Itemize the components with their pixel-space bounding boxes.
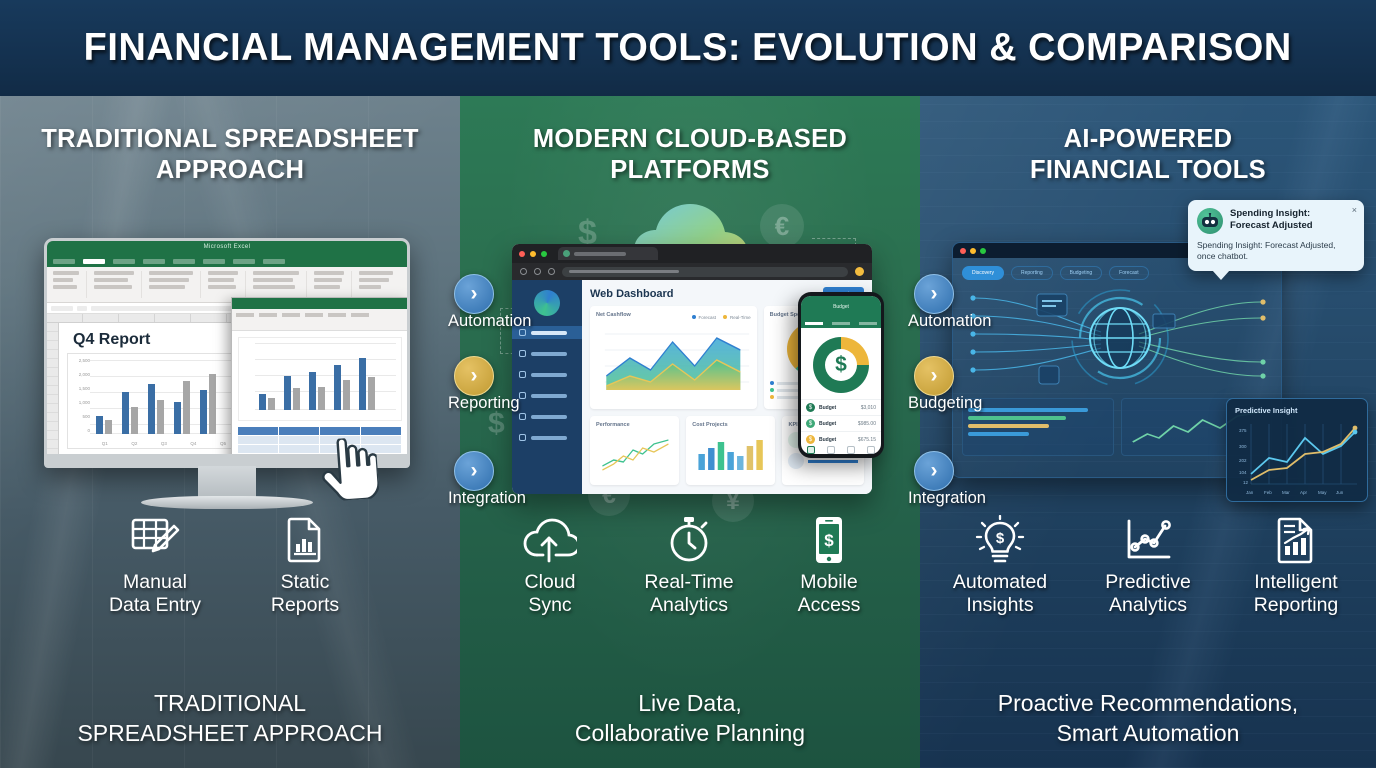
page-title: FINANCIAL MANAGEMENT TOOLS: EVOLUTION & …	[84, 26, 1292, 70]
ribbon-tab[interactable]	[113, 259, 135, 264]
connector-label: Integration	[448, 489, 526, 508]
phone-budget-row[interactable]: $ Budget $985.00	[801, 415, 881, 431]
connector-label: Reporting	[448, 394, 520, 413]
row-label: Budget	[819, 437, 854, 443]
feature-label: Real-Time Analytics	[614, 571, 764, 617]
monitor-stand-base	[141, 496, 313, 509]
secondary-spreadsheet-window[interactable]	[231, 297, 407, 454]
connector-budgeting-right[interactable]: › Budgeting	[914, 356, 1054, 396]
ribbon-group[interactable]	[253, 271, 307, 298]
mini-bar-chart	[692, 432, 769, 474]
tooltip-body: Spending Insight: Forecast Adjusted, onc…	[1197, 240, 1355, 261]
window-close-dot[interactable]	[960, 248, 966, 254]
feature-automated-insights[interactable]: $ Automated Insights	[925, 514, 1075, 617]
row-dollar-icon: $	[806, 435, 815, 444]
svg-text:202: 202	[1239, 458, 1247, 463]
phone-tab[interactable]	[859, 322, 877, 325]
svg-text:Jun: Jun	[1336, 490, 1344, 495]
svg-text:$: $	[824, 531, 834, 550]
column-traditional-title: TRADITIONAL SPREADSHEET APPROACH	[0, 124, 460, 186]
feature-label-line2: Reports	[230, 594, 380, 617]
chevron-right-icon[interactable]: ›	[914, 356, 954, 396]
caption-line2: Collaborative Planning	[474, 719, 906, 748]
svg-text:12: 12	[1243, 480, 1249, 485]
tooltip-title-line1: Spending Insight:	[1230, 208, 1313, 219]
bar-chart-y-axis: 2,5002,0001,500 1,0005000	[70, 358, 90, 434]
tooltip-title-line2: Forecast Adjusted	[1230, 220, 1313, 231]
connector-label: Budgeting	[908, 394, 982, 413]
phone-tab[interactable]	[832, 322, 850, 325]
feature-label-line1: Real-Time	[614, 571, 764, 594]
tooltip-header: Spending Insight: Forecast Adjusted	[1197, 208, 1355, 234]
phone-title: Budget	[833, 304, 849, 310]
monitor-bezel: Microsoft Excel	[44, 238, 410, 468]
legend-item: Forecast	[692, 315, 717, 320]
feature-label-line1: Manual	[80, 571, 230, 594]
chevron-right-icon[interactable]: ›	[454, 274, 494, 314]
chevron-right-icon[interactable]: ›	[914, 274, 954, 314]
feature-label: Cloud Sync	[486, 571, 614, 617]
traditional-features: Manual Data Entry	[0, 514, 460, 617]
tooltip-title: Spending Insight: Forecast Adjusted	[1230, 208, 1313, 231]
connector-label: Integration	[908, 489, 986, 508]
feature-label-line2: Sync	[486, 594, 614, 617]
columns-container: TRADITIONAL SPREADSHEET APPROACH Microso…	[0, 96, 1376, 768]
row-value: $675.15	[858, 437, 876, 443]
svg-text:Apr: Apr	[1300, 490, 1308, 495]
chip-forecast[interactable]: Forecast	[1109, 266, 1148, 280]
chip-budgeting[interactable]: Budgeting	[1060, 266, 1103, 280]
column-ai-title-line1: AI-POWERED	[938, 124, 1358, 155]
spreadsheet-ribbon-tabs[interactable]	[47, 256, 407, 267]
feature-label: Mobile Access	[764, 571, 894, 617]
document-growth-icon	[1221, 514, 1371, 566]
caption-line1: Proactive Recommendations,	[934, 689, 1362, 718]
monitor-stand-neck	[198, 466, 256, 500]
line-chart-icon	[1075, 514, 1221, 566]
plug-icon	[519, 434, 526, 441]
spreadsheet-titlebar: Microsoft Excel	[47, 241, 407, 256]
ribbon-tab[interactable]	[53, 259, 75, 264]
svg-text:May: May	[1318, 490, 1327, 495]
ribbon-tab[interactable]	[143, 259, 165, 264]
hand-cursor-icon	[319, 436, 380, 515]
column-ai-title: AI-POWERED FINANCIAL TOOLS	[920, 124, 1376, 186]
feature-label: Automated Insights	[925, 571, 1075, 617]
feature-label-line1: Intelligent	[1221, 571, 1371, 594]
feature-real-time-analytics[interactable]: Real-Time Analytics	[614, 514, 764, 617]
secondary-window-titlebar	[232, 298, 407, 309]
column-cloud: MODERN CLOUD-BASED PLATFORMS	[460, 96, 920, 768]
caption-line1: Live Data,	[474, 689, 906, 718]
feature-label-line2: Insights	[925, 594, 1075, 617]
column-traditional-title-line2: APPROACH	[18, 155, 442, 186]
phone-budget-row[interactable]: $ Budget $675.15	[801, 431, 881, 447]
connector-integration-left[interactable]: › Integration	[454, 451, 594, 491]
card-cost-projects: Cost Projects	[686, 416, 775, 485]
feature-label-line1: Mobile	[764, 571, 894, 594]
feature-label-line1: Static	[230, 571, 380, 594]
chart-legend: Forecast Real-Time	[692, 315, 751, 320]
sidebar-item-integrations[interactable]	[512, 431, 582, 444]
spreadsheet-app: Microsoft Excel	[47, 241, 407, 454]
feature-label: Manual Data Entry	[80, 571, 230, 617]
document-bar-chart-icon	[230, 514, 380, 566]
tabbar-card-icon[interactable]	[847, 446, 855, 454]
feature-label-line1: Automated	[925, 571, 1075, 594]
card-net-cashflow: Net Cashflow Forecast Real-Time	[590, 306, 757, 409]
predictive-card-title: Predictive Insight	[1235, 406, 1359, 415]
row-dollar-icon: $	[806, 403, 815, 412]
favicon-icon	[563, 250, 570, 257]
feature-label-line2: Reporting	[1221, 594, 1371, 617]
phone-tab-active[interactable]	[805, 322, 823, 325]
mobile-phone-mockup[interactable]: Budget $ Budget $3,010 $ Budget $985	[798, 292, 884, 458]
desktop-monitor: Microsoft Excel	[44, 238, 410, 468]
predictive-insight-card[interactable]: Predictive Insight 37530020210412 JanFeb…	[1226, 398, 1368, 502]
cloud-upload-icon	[486, 514, 614, 566]
column-cloud-title: MODERN CLOUD-BASED PLATFORMS	[460, 124, 920, 186]
feature-label-line1: Predictive	[1075, 571, 1221, 594]
chevron-right-icon[interactable]: ›	[914, 451, 954, 491]
dashboard-title: Web Dashboard	[590, 288, 674, 300]
url-input[interactable]	[562, 267, 848, 277]
bar-chart-plot	[90, 360, 238, 434]
column-ai: AI-POWERED FINANCIAL TOOLS Discovery Rep…	[920, 96, 1376, 768]
ribbon-group[interactable]	[53, 271, 87, 298]
connector-label: Automation	[448, 312, 531, 331]
column-cloud-title-line1: MODERN CLOUD-BASED	[478, 124, 902, 155]
ribbon-tab[interactable]	[203, 259, 225, 264]
caption-line1: TRADITIONAL	[14, 689, 446, 718]
bar-chart: 2,5002,0001,500 1,0005000	[67, 353, 245, 449]
feature-cloud-sync[interactable]: Cloud Sync	[486, 514, 614, 617]
feature-label-line1: Cloud	[486, 571, 614, 594]
window-minimize-dot[interactable]	[970, 248, 976, 254]
phone-budget-row[interactable]: $ Budget $3,010	[801, 399, 881, 415]
legend-item: Real-Time	[723, 315, 751, 320]
secondary-window-ribbon[interactable]	[232, 309, 407, 331]
row-label: Budget	[819, 421, 854, 427]
phone-donut-chart	[813, 337, 869, 393]
chevron-right-icon[interactable]: ›	[454, 451, 494, 491]
infographic-root: FINANCIAL MANAGEMENT TOOLS: EVOLUTION & …	[0, 0, 1376, 768]
secondary-bar-chart	[238, 337, 402, 421]
area-chart	[596, 322, 751, 398]
ribbon-tab-active[interactable]	[83, 259, 105, 264]
kpi-badge	[788, 453, 804, 469]
close-icon[interactable]: ×	[1352, 205, 1357, 215]
row-label: Budget	[819, 405, 857, 411]
ribbon-tab[interactable]	[233, 259, 255, 264]
ribbon-group[interactable]	[149, 271, 201, 298]
feature-label-line2: Analytics	[614, 594, 764, 617]
column-ai-title-line2: FINANCIAL TOOLS	[938, 155, 1358, 186]
connector-integration-right[interactable]: › Integration	[914, 451, 1054, 491]
profile-avatar[interactable]	[855, 267, 864, 276]
column-traditional: TRADITIONAL SPREADSHEET APPROACH Microso…	[0, 96, 460, 768]
svg-text:300: 300	[1239, 444, 1247, 449]
caption-line2: SPREADSHEET APPROACH	[14, 719, 446, 748]
svg-text:$: $	[996, 530, 1005, 547]
feature-static-reports[interactable]: Static Reports	[230, 514, 380, 617]
feature-mobile-access[interactable]: $ Mobile Access	[764, 514, 894, 617]
ribbon-group[interactable]	[94, 271, 142, 298]
ai-features: $ Automated Insights	[920, 514, 1376, 617]
robot-icon	[1197, 208, 1223, 234]
stopwatch-icon	[614, 514, 764, 566]
connector-automation-right[interactable]: › Automation	[914, 274, 1054, 314]
connector-reporting-left[interactable]: › Reporting	[454, 356, 594, 396]
window-minimize-dot[interactable]	[530, 251, 536, 257]
feature-label-line2: Access	[764, 594, 894, 617]
table-pencil-icon	[80, 514, 230, 566]
ribbon-tab[interactable]	[173, 259, 195, 264]
spreadsheet-doc-label: Microsoft Excel	[204, 244, 251, 250]
feature-label: Predictive Analytics	[1075, 571, 1221, 617]
feature-label-line2: Analytics	[1075, 594, 1221, 617]
phone-tabbar[interactable]	[801, 446, 881, 454]
feature-label: Static Reports	[230, 571, 380, 617]
tabbar-home-icon[interactable]	[807, 446, 815, 454]
tabbar-chart-icon[interactable]	[827, 446, 835, 454]
cloud-features: Cloud Sync Re	[460, 514, 920, 617]
ribbon-tab[interactable]	[263, 259, 285, 264]
ai-caption: Proactive Recommendations, Smart Automat…	[920, 689, 1376, 748]
row-headers	[47, 323, 59, 454]
browser-tabbar[interactable]	[512, 244, 872, 263]
card-title: Cost Projects	[692, 422, 769, 428]
ai-metrics-card	[962, 398, 1114, 456]
mobile-dollar-icon: $	[764, 514, 894, 566]
feature-label-line2: Data Entry	[80, 594, 230, 617]
phone-screen: Budget $ Budget $3,010 $ Budget $985	[801, 296, 881, 454]
feature-intelligent-reporting[interactable]: Intelligent Reporting	[1221, 514, 1371, 617]
row-value: $985.00	[858, 421, 876, 427]
card-performance: Performance	[590, 416, 679, 485]
ribbon-group[interactable]	[359, 271, 400, 298]
phone-header: Budget	[801, 296, 881, 328]
ai-insight-tooltip[interactable]: × Spending Insight: Fore	[1188, 200, 1364, 271]
feature-predictive-analytics[interactable]: Predictive Analytics	[1075, 514, 1221, 617]
column-cloud-title-line2: PLATFORMS	[478, 155, 902, 186]
lightbulb-dollar-icon: $	[925, 514, 1075, 566]
svg-text:Feb: Feb	[1264, 490, 1272, 495]
table-header-row	[238, 427, 402, 436]
chevron-right-icon[interactable]: ›	[454, 356, 494, 396]
row-dollar-icon: $	[806, 419, 815, 428]
svg-text:Mar: Mar	[1282, 490, 1290, 495]
svg-text:375: 375	[1239, 428, 1247, 433]
row-value: $3,010	[861, 405, 876, 411]
ribbon-group[interactable]	[314, 271, 352, 298]
feature-manual-data-entry[interactable]: Manual Data Entry	[80, 514, 230, 617]
browser-tab[interactable]	[558, 247, 658, 260]
sidebar-item-budgets[interactable]	[512, 410, 582, 423]
bar-chart-x-axis: Q1Q2Q3Q4Q5	[90, 441, 238, 446]
cloud-caption: Live Data, Collaborative Planning	[460, 689, 920, 748]
svg-text:104: 104	[1239, 470, 1247, 475]
card-title: Net Cashflow	[596, 312, 631, 318]
ribbon-group[interactable]	[208, 271, 246, 298]
card-title: Performance	[596, 422, 673, 428]
predictive-line-chart: 37530020210412 JanFebMar AprMayJun	[1235, 418, 1363, 500]
wallet-icon	[519, 413, 526, 420]
window-maximize-dot[interactable]	[541, 251, 547, 257]
header-banner: FINANCIAL MANAGEMENT TOOLS: EVOLUTION & …	[0, 0, 1376, 96]
window-maximize-dot[interactable]	[980, 248, 986, 254]
traditional-illustration: Microsoft Excel	[0, 192, 460, 512]
mini-line-chart	[596, 432, 673, 474]
feature-label: Intelligent Reporting	[1221, 571, 1371, 617]
window-close-dot[interactable]	[519, 251, 525, 257]
currency-symbol-euro: €	[760, 204, 804, 248]
traditional-caption: TRADITIONAL SPREADSHEET APPROACH	[0, 689, 460, 748]
phone-tabs[interactable]	[801, 322, 881, 325]
svg-text:Jan: Jan	[1246, 490, 1254, 495]
connector-label: Automation	[908, 312, 991, 331]
connector-automation-left[interactable]: › Automation	[454, 274, 594, 314]
caption-line2: Smart Automation	[934, 719, 1362, 748]
tabbar-profile-icon[interactable]	[867, 446, 875, 454]
column-traditional-title-line1: TRADITIONAL SPREADSHEET	[18, 124, 442, 155]
